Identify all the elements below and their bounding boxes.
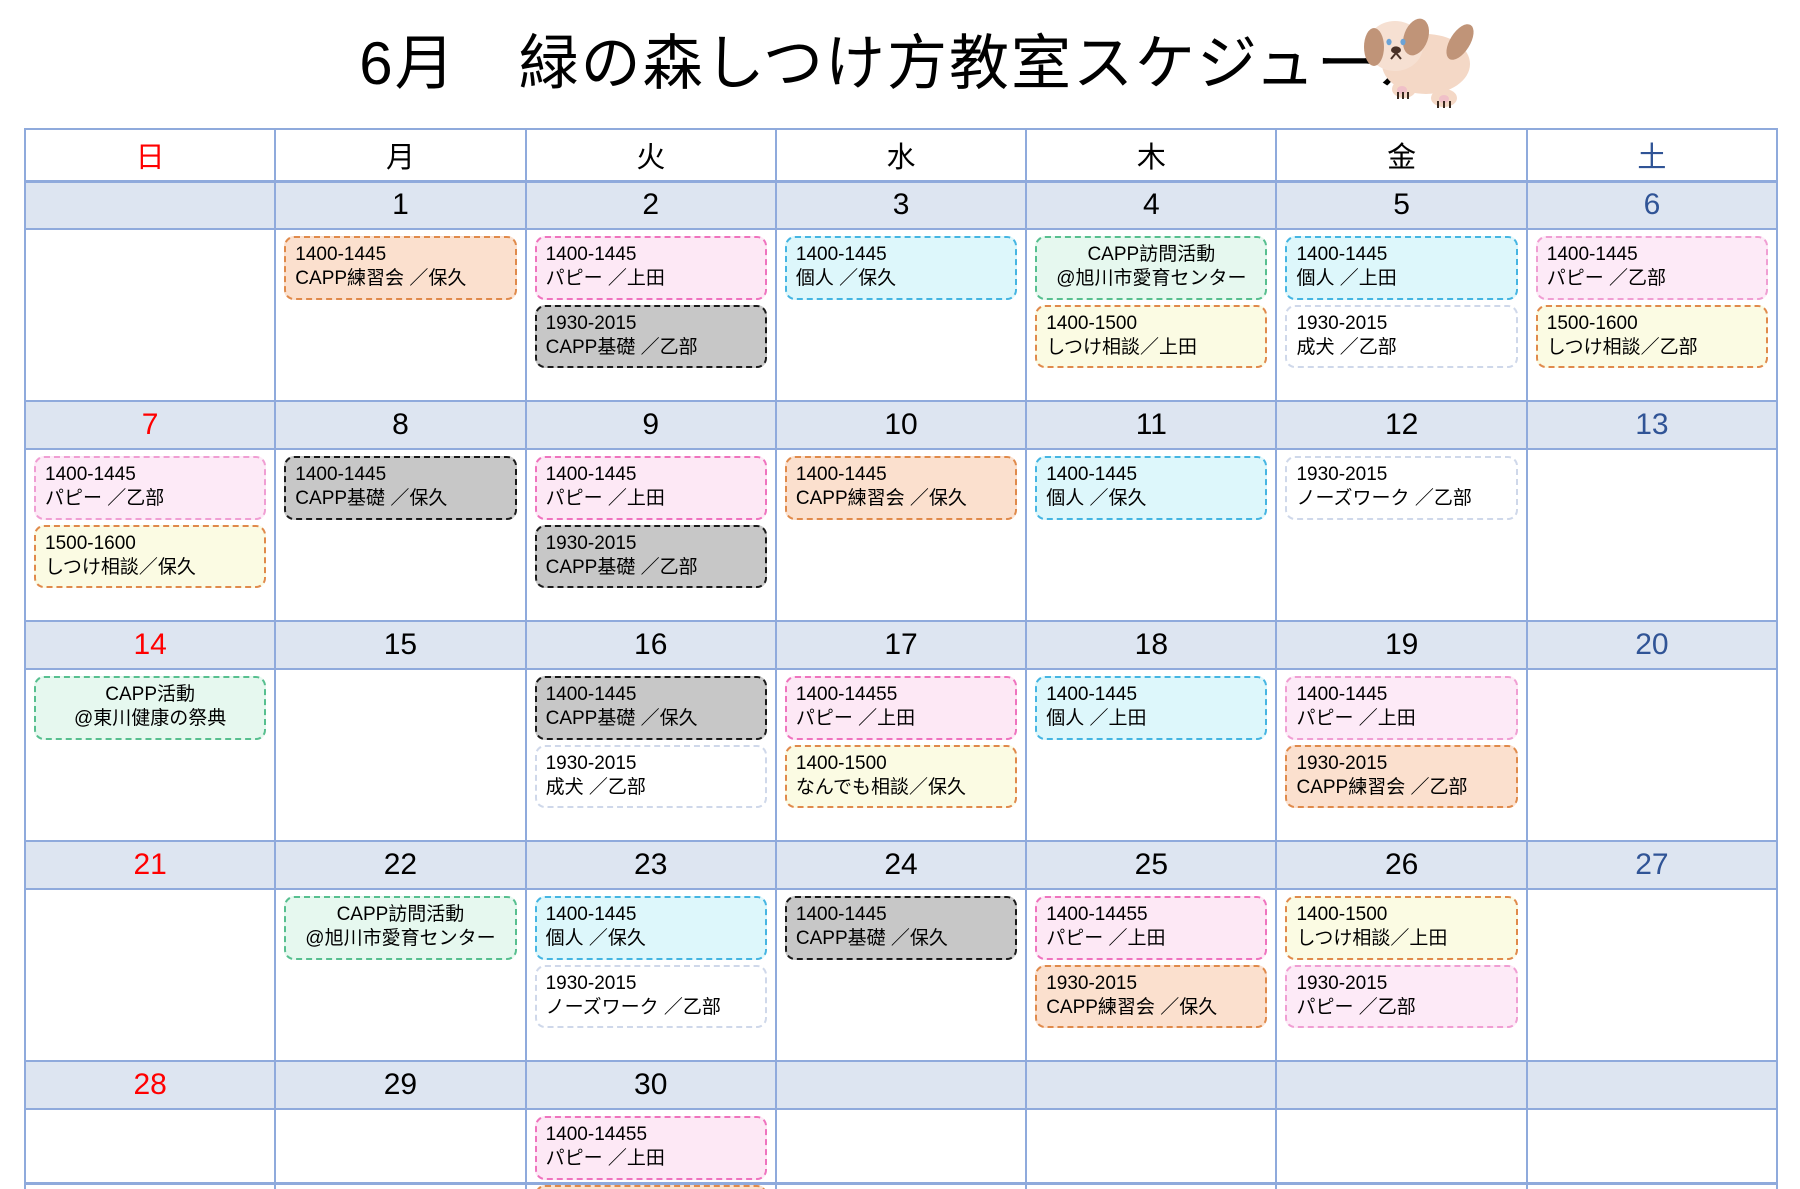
weekday-header-mon: 月 bbox=[275, 129, 525, 181]
event-time: 1400-1445 bbox=[796, 243, 1006, 267]
event-detail: 個人 ／上田 bbox=[1046, 707, 1256, 731]
day-events-23[interactable]: 1400-1445個人 ／保久1930-2015ノーズワーク ／乙部 bbox=[526, 889, 776, 1061]
event-card[interactable]: 1930-2015ノーズワーク ／乙部 bbox=[535, 965, 767, 1029]
event-card[interactable]: 1400-1445パピー ／乙部 bbox=[1536, 236, 1768, 300]
date-number-row: 78910111213 bbox=[25, 401, 1777, 449]
calendar-body: 1234561400-1445CAPP練習会 ／保久1400-1445パピー ／… bbox=[25, 181, 1777, 1189]
event-card[interactable]: 1400-1445個人 ／保久 bbox=[535, 896, 767, 960]
date-cell-28[interactable]: 28 bbox=[25, 1061, 275, 1109]
day-events-28[interactable] bbox=[25, 1109, 275, 1189]
page-title-bar: 6月 緑の森しつけ方教室スケジュール bbox=[0, 0, 1800, 128]
date-cell-13[interactable]: 13 bbox=[1527, 401, 1777, 449]
date-cell-19[interactable]: 19 bbox=[1276, 621, 1526, 669]
event-detail: 成犬 ／乙部 bbox=[1296, 336, 1506, 360]
day-events-5[interactable]: 1400-1445個人 ／上田1930-2015成犬 ／乙部 bbox=[1276, 229, 1526, 401]
date-cell-14[interactable]: 14 bbox=[25, 621, 275, 669]
calendar-page: 6月 緑の森しつけ方教室スケジュール 日 bbox=[0, 0, 1800, 1189]
event-card[interactable]: 1400-1445個人 ／保久 bbox=[1035, 456, 1267, 520]
weekday-header-sat: 土 bbox=[1527, 129, 1777, 181]
event-card[interactable]: CAPP訪問活動@旭川市愛育センター bbox=[284, 896, 516, 960]
event-time: 1400-1500 bbox=[796, 752, 1006, 776]
event-card[interactable]: 1930-2015CAPP練習会 ／乙部 bbox=[535, 1185, 767, 1189]
event-detail: しつけ相談／乙部 bbox=[1547, 336, 1757, 360]
event-time: 1400-1445 bbox=[1547, 243, 1757, 267]
date-number-row: 21222324252627 bbox=[25, 841, 1777, 889]
date-cell-18[interactable]: 18 bbox=[1026, 621, 1276, 669]
date-cell-24[interactable]: 24 bbox=[776, 841, 1026, 889]
events-row: 1400-1445パピー ／乙部1500-1600しつけ相談／保久1400-14… bbox=[25, 449, 1777, 621]
weekday-header-fri: 金 bbox=[1276, 129, 1526, 181]
date-cell-26[interactable]: 26 bbox=[1276, 841, 1526, 889]
event-card[interactable]: 1500-1600しつけ相談／乙部 bbox=[1536, 305, 1768, 369]
day-events-21[interactable] bbox=[25, 889, 275, 1061]
day-events-14[interactable]: CAPP活動@東川健康の祭典 bbox=[25, 669, 275, 841]
event-detail: ノーズワーク ／乙部 bbox=[546, 996, 756, 1020]
event-card[interactable]: 1930-2015CAPP基礎 ／乙部 bbox=[535, 525, 767, 589]
date-cell-3[interactable]: 3 bbox=[776, 181, 1026, 229]
event-detail: CAPP練習会 ／保久 bbox=[295, 267, 505, 291]
dog-illustration-icon bbox=[1340, 2, 1500, 114]
event-card[interactable]: 1400-1445パピー ／上田 bbox=[535, 456, 767, 520]
event-time: 1400-1500 bbox=[1046, 312, 1256, 336]
day-events-26[interactable]: 1400-1500しつけ相談／上田1930-2015パピー ／乙部 bbox=[1276, 889, 1526, 1061]
event-time: 1400-1445 bbox=[546, 463, 756, 487]
calendar-table: 日 月 火 水 木 金 土 1234561400-1445CAPP練習会 ／保久… bbox=[24, 128, 1778, 1189]
event-detail: パピー ／乙部 bbox=[1296, 996, 1506, 1020]
date-cell-empty[interactable] bbox=[25, 181, 275, 229]
day-events-22[interactable]: CAPP訪問活動@旭川市愛育センター bbox=[275, 889, 525, 1061]
day-events-25[interactable]: 1400-14455パピー ／上田1930-2015CAPP練習会 ／保久 bbox=[1026, 889, 1276, 1061]
event-card[interactable]: 1400-14455パピー ／上田 bbox=[1035, 896, 1267, 960]
day-events-24[interactable]: 1400-1445CAPP基礎 ／保久 bbox=[776, 889, 1026, 1061]
day-events-6[interactable]: 1400-1445パピー ／乙部1500-1600しつけ相談／乙部 bbox=[1527, 229, 1777, 401]
day-events-empty[interactable] bbox=[1527, 1109, 1777, 1189]
weekday-header-tue: 火 bbox=[526, 129, 776, 181]
event-card[interactable]: CAPP活動@東川健康の祭典 bbox=[34, 676, 266, 740]
event-card[interactable]: 1400-1445CAPP練習会 ／保久 bbox=[284, 236, 516, 300]
date-cell-empty[interactable] bbox=[1026, 1061, 1276, 1109]
event-detail: 個人 ／保久 bbox=[546, 927, 756, 951]
event-card[interactable]: 1500-1600しつけ相談／保久 bbox=[34, 525, 266, 589]
event-time: 1930-2015 bbox=[546, 312, 756, 336]
weekday-header-wed: 水 bbox=[776, 129, 1026, 181]
event-time: 1400-14455 bbox=[546, 1123, 756, 1147]
event-detail: しつけ相談／上田 bbox=[1046, 336, 1256, 360]
event-detail: パピー ／上田 bbox=[546, 267, 756, 291]
events-row: 1400-1445CAPP練習会 ／保久1400-1445パピー ／上田1930… bbox=[25, 229, 1777, 401]
day-events-20[interactable] bbox=[1527, 669, 1777, 841]
event-detail: パピー ／乙部 bbox=[45, 487, 255, 511]
day-events-empty[interactable] bbox=[776, 1109, 1026, 1189]
event-time: 1400-1500 bbox=[1296, 903, 1506, 927]
date-cell-30[interactable]: 30 bbox=[526, 1061, 776, 1109]
date-cell-2[interactable]: 2 bbox=[526, 181, 776, 229]
event-detail: なんでも相談／保久 bbox=[796, 776, 1006, 800]
event-time: 1400-1445 bbox=[796, 463, 1006, 487]
day-events-30[interactable]: 1400-14455パピー ／上田1930-2015CAPP練習会 ／乙部 bbox=[526, 1109, 776, 1189]
event-card[interactable]: 1400-1445CAPP基礎 ／保久 bbox=[284, 456, 516, 520]
event-detail: @東川健康の祭典 bbox=[45, 707, 255, 731]
date-number-row: 14151617181920 bbox=[25, 621, 1777, 669]
day-events-empty[interactable] bbox=[1026, 1109, 1276, 1189]
event-detail: CAPP基礎 ／乙部 bbox=[546, 556, 756, 580]
date-cell-10[interactable]: 10 bbox=[776, 401, 1026, 449]
date-cell-25[interactable]: 25 bbox=[1026, 841, 1276, 889]
event-time: CAPP活動 bbox=[45, 683, 255, 707]
event-card[interactable]: 1930-2015CAPP練習会 ／保久 bbox=[1035, 965, 1267, 1029]
event-card[interactable]: 1400-14455パピー ／上田 bbox=[535, 1116, 767, 1180]
event-time: 1930-2015 bbox=[1046, 972, 1256, 996]
event-time: 1400-1445 bbox=[546, 903, 756, 927]
weekday-header-row: 日 月 火 水 木 金 土 bbox=[25, 129, 1777, 181]
event-detail: パピー ／上田 bbox=[546, 487, 756, 511]
date-cell-20[interactable]: 20 bbox=[1527, 621, 1777, 669]
event-detail: 個人 ／上田 bbox=[1296, 267, 1506, 291]
event-card[interactable]: 1400-1445個人 ／保久 bbox=[785, 236, 1017, 300]
event-card[interactable]: 1930-2015ノーズワーク ／乙部 bbox=[1285, 456, 1517, 520]
date-cell-4[interactable]: 4 bbox=[1026, 181, 1276, 229]
day-events-17[interactable]: 1400-14455パピー ／上田1400-1500なんでも相談／保久 bbox=[776, 669, 1026, 841]
event-card[interactable]: CAPP訪問活動@旭川市愛育センター bbox=[1035, 236, 1267, 300]
event-time: 1500-1600 bbox=[1547, 312, 1757, 336]
bottom-rule bbox=[24, 1182, 1776, 1185]
event-detail: @旭川市愛育センター bbox=[1046, 267, 1256, 291]
date-cell-9[interactable]: 9 bbox=[526, 401, 776, 449]
event-card[interactable]: 1400-1445パピー ／上田 bbox=[1285, 676, 1517, 740]
event-detail: 個人 ／保久 bbox=[1046, 487, 1256, 511]
event-time: 1930-2015 bbox=[1296, 312, 1506, 336]
event-card[interactable]: 1400-1500しつけ相談／上田 bbox=[1035, 305, 1267, 369]
event-time: 1400-14455 bbox=[1046, 903, 1256, 927]
day-events-19[interactable]: 1400-1445パピー ／上田1930-2015CAPP練習会 ／乙部 bbox=[1276, 669, 1526, 841]
date-cell-27[interactable]: 27 bbox=[1527, 841, 1777, 889]
date-cell-6[interactable]: 6 bbox=[1527, 181, 1777, 229]
date-cell-16[interactable]: 16 bbox=[526, 621, 776, 669]
event-time: 1400-1445 bbox=[546, 683, 756, 707]
event-detail: しつけ相談／保久 bbox=[45, 556, 255, 580]
day-events-8[interactable]: 1400-1445CAPP基礎 ／保久 bbox=[275, 449, 525, 621]
date-cell-11[interactable]: 11 bbox=[1026, 401, 1276, 449]
day-events-12[interactable]: 1930-2015ノーズワーク ／乙部 bbox=[1276, 449, 1526, 621]
date-cell-empty[interactable] bbox=[1527, 1061, 1777, 1109]
event-detail: CAPP基礎 ／乙部 bbox=[546, 336, 756, 360]
day-events-11[interactable]: 1400-1445個人 ／保久 bbox=[1026, 449, 1276, 621]
date-cell-21[interactable]: 21 bbox=[25, 841, 275, 889]
event-card[interactable]: 1400-1445パピー ／上田 bbox=[535, 236, 767, 300]
day-events-7[interactable]: 1400-1445パピー ／乙部1500-1600しつけ相談／保久 bbox=[25, 449, 275, 621]
date-cell-empty[interactable] bbox=[776, 1061, 1026, 1109]
date-number-row: 282930 bbox=[25, 1061, 1777, 1109]
event-time: CAPP訪問活動 bbox=[1046, 243, 1256, 267]
event-detail: CAPP基礎 ／保久 bbox=[796, 927, 1006, 951]
event-card[interactable]: 1400-1500なんでも相談／保久 bbox=[785, 745, 1017, 809]
event-time: 1400-1445 bbox=[295, 463, 505, 487]
day-events-13[interactable] bbox=[1527, 449, 1777, 621]
day-events-4[interactable]: CAPP訪問活動@旭川市愛育センター1400-1500しつけ相談／上田 bbox=[1026, 229, 1276, 401]
date-cell-17[interactable]: 17 bbox=[776, 621, 1026, 669]
day-events-3[interactable]: 1400-1445個人 ／保久 bbox=[776, 229, 1026, 401]
page-title: 6月 緑の森しつけ方教室スケジュール bbox=[359, 34, 1441, 94]
event-detail: CAPP練習会 ／保久 bbox=[1046, 996, 1256, 1020]
event-time: 1400-1445 bbox=[1046, 683, 1256, 707]
event-card[interactable]: 1930-2015成犬 ／乙部 bbox=[535, 745, 767, 809]
weekday-header-thu: 木 bbox=[1026, 129, 1276, 181]
date-cell-8[interactable]: 8 bbox=[275, 401, 525, 449]
event-time: 1400-1445 bbox=[1296, 243, 1506, 267]
event-card[interactable]: 1400-1445CAPP練習会 ／保久 bbox=[785, 456, 1017, 520]
event-card[interactable]: 1930-2015CAPP基礎 ／乙部 bbox=[535, 305, 767, 369]
event-detail: CAPP基礎 ／保久 bbox=[295, 487, 505, 511]
events-row: CAPP訪問活動@旭川市愛育センター1400-1445個人 ／保久1930-20… bbox=[25, 889, 1777, 1061]
event-card[interactable]: 1930-2015成犬 ／乙部 bbox=[1285, 305, 1517, 369]
day-events-29[interactable] bbox=[275, 1109, 525, 1189]
event-card[interactable]: 1400-14455パピー ／上田 bbox=[785, 676, 1017, 740]
event-detail: CAPP練習会 ／乙部 bbox=[1296, 776, 1506, 800]
day-events-1[interactable]: 1400-1445CAPP練習会 ／保久 bbox=[275, 229, 525, 401]
date-cell-12[interactable]: 12 bbox=[1276, 401, 1526, 449]
event-time: 1500-1600 bbox=[45, 532, 255, 556]
event-time: 1400-1445 bbox=[546, 243, 756, 267]
date-cell-29[interactable]: 29 bbox=[275, 1061, 525, 1109]
date-cell-7[interactable]: 7 bbox=[25, 401, 275, 449]
day-events-empty[interactable] bbox=[25, 229, 275, 401]
event-card[interactable]: 1400-1445CAPP基礎 ／保久 bbox=[535, 676, 767, 740]
event-time: 1930-2015 bbox=[546, 752, 756, 776]
date-number-row: 123456 bbox=[25, 181, 1777, 229]
event-detail: CAPP基礎 ／保久 bbox=[546, 707, 756, 731]
day-events-16[interactable]: 1400-1445CAPP基礎 ／保久1930-2015成犬 ／乙部 bbox=[526, 669, 776, 841]
day-events-2[interactable]: 1400-1445パピー ／上田1930-2015CAPP基礎 ／乙部 bbox=[526, 229, 776, 401]
events-row: 1400-14455パピー ／上田1930-2015CAPP練習会 ／乙部 bbox=[25, 1109, 1777, 1189]
event-time: 1400-1445 bbox=[295, 243, 505, 267]
event-time: 1400-1445 bbox=[1046, 463, 1256, 487]
event-card[interactable]: 1930-2015パピー ／乙部 bbox=[1285, 965, 1517, 1029]
day-events-empty[interactable] bbox=[1276, 1109, 1526, 1189]
event-detail: @旭川市愛育センター bbox=[295, 927, 505, 951]
date-cell-5[interactable]: 5 bbox=[1276, 181, 1526, 229]
event-time: 1930-2015 bbox=[1296, 463, 1506, 487]
event-card[interactable]: 1400-1445個人 ／上田 bbox=[1035, 676, 1267, 740]
day-events-27[interactable] bbox=[1527, 889, 1777, 1061]
event-detail: パピー ／上田 bbox=[1046, 927, 1256, 951]
events-row: CAPP活動@東川健康の祭典1400-1445CAPP基礎 ／保久1930-20… bbox=[25, 669, 1777, 841]
event-card[interactable]: 1400-1445CAPP基礎 ／保久 bbox=[785, 896, 1017, 960]
day-events-15[interactable] bbox=[275, 669, 525, 841]
event-detail: 成犬 ／乙部 bbox=[546, 776, 756, 800]
event-card[interactable]: 1400-1445パピー ／乙部 bbox=[34, 456, 266, 520]
event-detail: 個人 ／保久 bbox=[796, 267, 1006, 291]
event-time: 1400-1445 bbox=[1296, 683, 1506, 707]
day-events-18[interactable]: 1400-1445個人 ／上田 bbox=[1026, 669, 1276, 841]
calendar-grid: 日 月 火 水 木 金 土 1234561400-1445CAPP練習会 ／保久… bbox=[24, 128, 1776, 1189]
weekday-header-sun: 日 bbox=[25, 129, 275, 181]
event-detail: しつけ相談／上田 bbox=[1296, 927, 1506, 951]
event-card[interactable]: 1400-1445個人 ／上田 bbox=[1285, 236, 1517, 300]
event-detail: ノーズワーク ／乙部 bbox=[1296, 487, 1506, 511]
event-time: 1400-1445 bbox=[45, 463, 255, 487]
event-detail: CAPP練習会 ／保久 bbox=[796, 487, 1006, 511]
date-cell-empty[interactable] bbox=[1276, 1061, 1526, 1109]
event-detail: パピー ／上田 bbox=[796, 707, 1006, 731]
event-card[interactable]: 1930-2015CAPP練習会 ／乙部 bbox=[1285, 745, 1517, 809]
event-time: 1400-14455 bbox=[796, 683, 1006, 707]
event-time: CAPP訪問活動 bbox=[295, 903, 505, 927]
date-cell-23[interactable]: 23 bbox=[526, 841, 776, 889]
event-time: 1400-1445 bbox=[796, 903, 1006, 927]
event-detail: パピー ／乙部 bbox=[1547, 267, 1757, 291]
date-cell-15[interactable]: 15 bbox=[275, 621, 525, 669]
day-events-10[interactable]: 1400-1445CAPP練習会 ／保久 bbox=[776, 449, 1026, 621]
event-time: 1930-2015 bbox=[1296, 972, 1506, 996]
event-detail: パピー ／上田 bbox=[546, 1147, 756, 1171]
day-events-9[interactable]: 1400-1445パピー ／上田1930-2015CAPP基礎 ／乙部 bbox=[526, 449, 776, 621]
event-time: 1930-2015 bbox=[546, 972, 756, 996]
event-time: 1930-2015 bbox=[1296, 752, 1506, 776]
date-cell-1[interactable]: 1 bbox=[275, 181, 525, 229]
date-cell-22[interactable]: 22 bbox=[275, 841, 525, 889]
event-detail: パピー ／上田 bbox=[1296, 707, 1506, 731]
event-card[interactable]: 1400-1500しつけ相談／上田 bbox=[1285, 896, 1517, 960]
event-time: 1930-2015 bbox=[546, 532, 756, 556]
